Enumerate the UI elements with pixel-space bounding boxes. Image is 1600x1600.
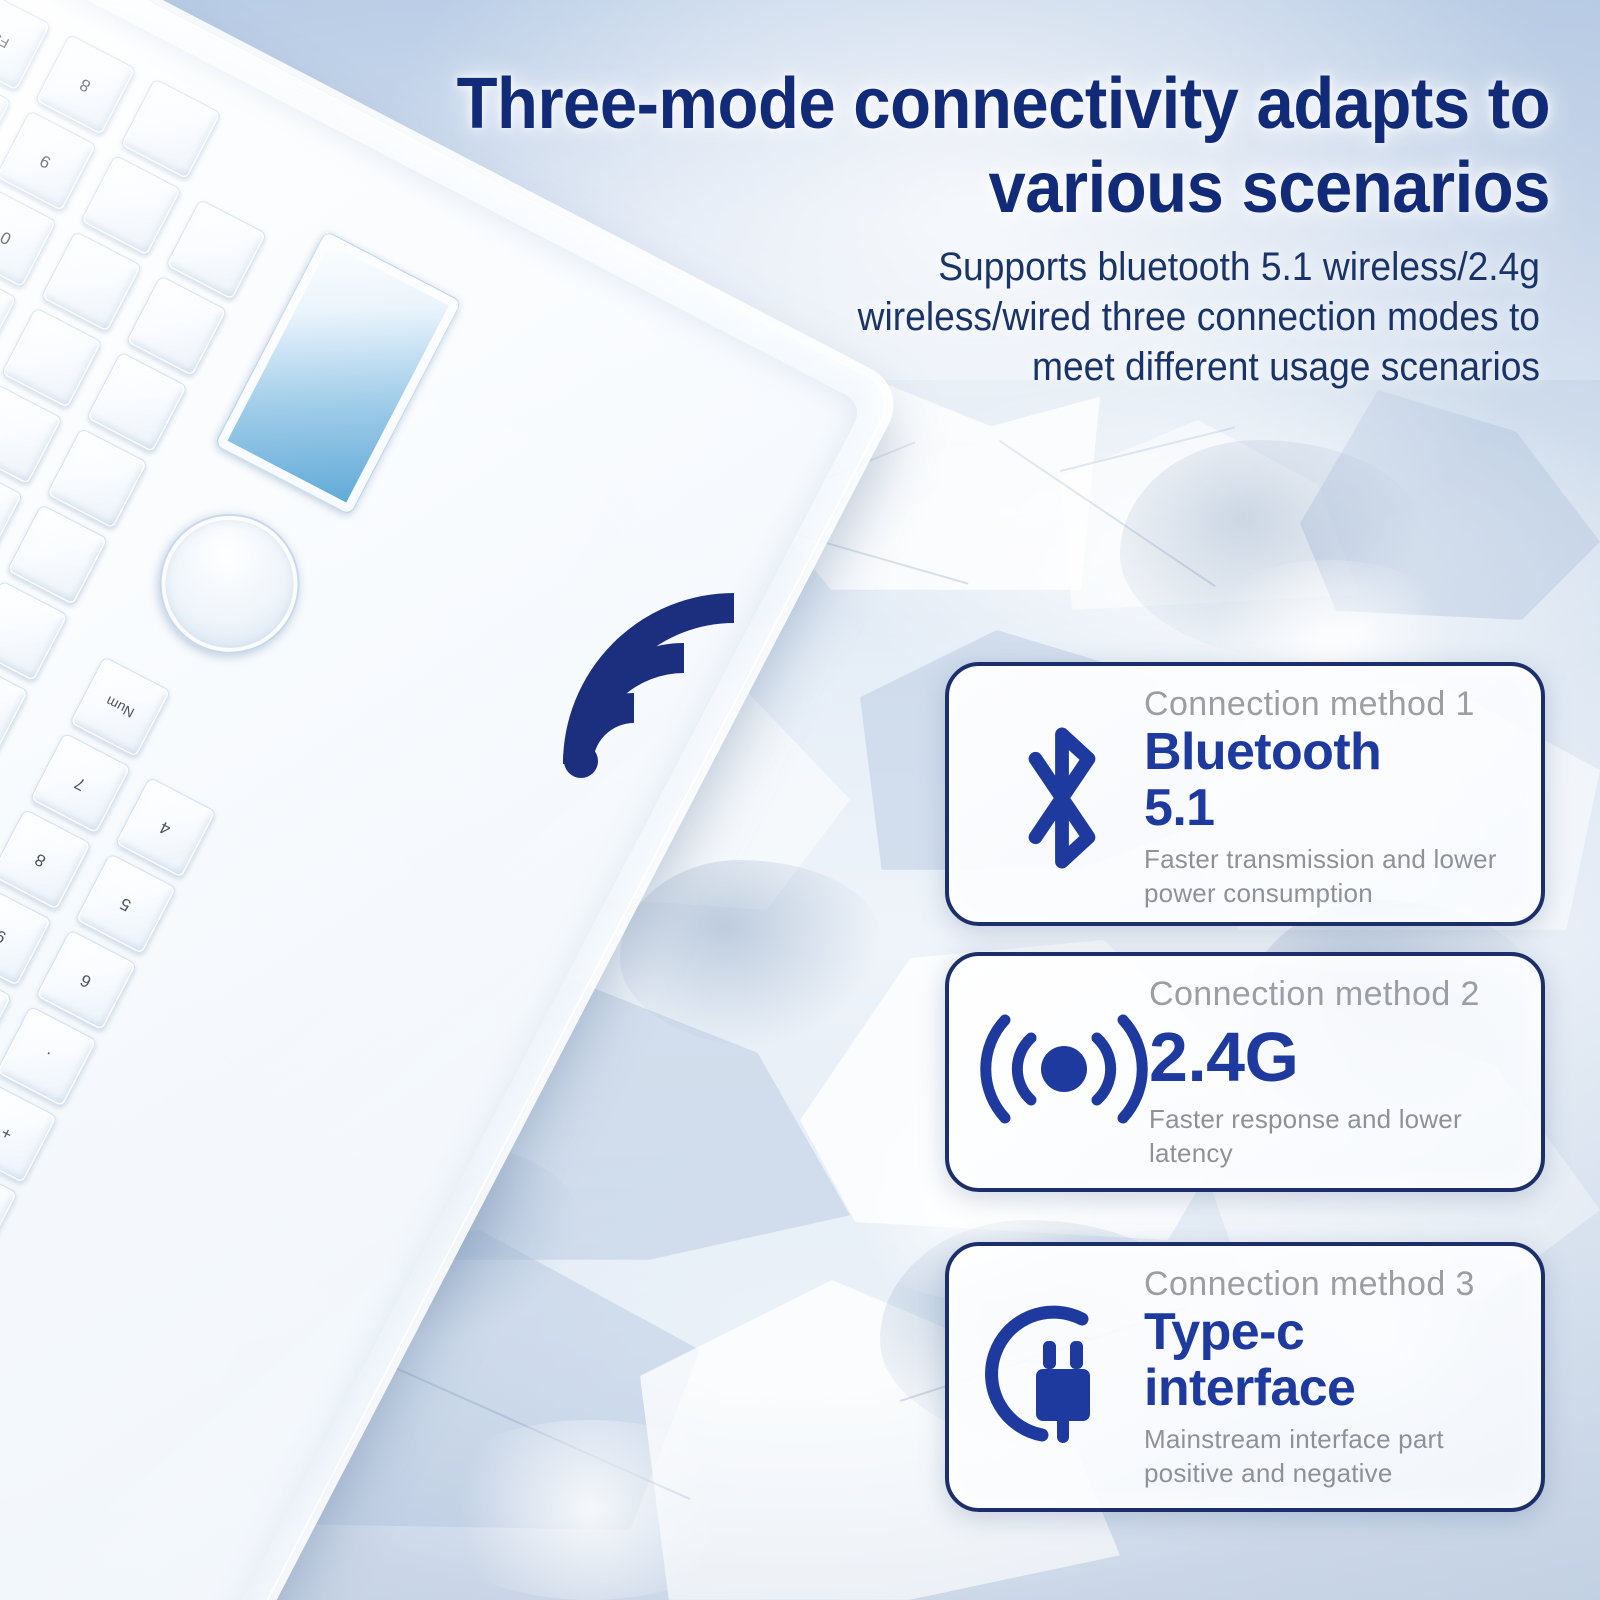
- key-label: 8: [77, 74, 95, 96]
- feature-card-kicker: Connection method 3: [1144, 1264, 1524, 1304]
- feature-card-desc-line2: positive and negative: [1144, 1456, 1524, 1490]
- page-title-line1: Three-mode connectivity adapts to: [388, 62, 1551, 146]
- wifi-signal-icon: [556, 586, 756, 786]
- feature-card-bluetooth-body: Connection method 1 Bluetooth 5.1 Faster…: [1144, 684, 1524, 910]
- page-subtitle-line3: meet different usage scenarios: [703, 342, 1540, 392]
- feature-card-typec-body: Connection method 3 Type-c interface Mai…: [1144, 1264, 1524, 1490]
- feature-card-desc-line1: Mainstream interface part: [1144, 1422, 1524, 1456]
- page-subtitle-line2: wireless/wired three connection modes to: [703, 292, 1540, 342]
- feature-card-typec[interactable]: Connection method 3 Type-c interface Mai…: [945, 1242, 1545, 1512]
- page-subtitle-line1: Supports bluetooth 5.1 wireless/2.4g: [703, 242, 1540, 292]
- key-label: 5: [117, 893, 135, 915]
- key-label: Num: [103, 693, 137, 721]
- feature-card-desc-line1: Faster response and lower: [1149, 1102, 1529, 1136]
- poster-canvas: F5 F6 F7 F8 F9 F10 F11 F12 Del 8 9 0 O P…: [0, 0, 1600, 1600]
- feature-card-desc-line1: Faster transmission and lower: [1144, 842, 1524, 876]
- power-plug-icon: [979, 1292, 1149, 1462]
- feature-card-title-line2: interface: [1144, 1360, 1524, 1416]
- feature-card-kicker: Connection method 1: [1144, 684, 1524, 724]
- page-subtitle: Supports bluetooth 5.1 wireless/2.4g wir…: [703, 242, 1540, 392]
- key-label: 9: [0, 925, 10, 947]
- feature-card-24g-body: Connection method 2 2.4G Faster response…: [1149, 974, 1529, 1170]
- key-label: 7: [72, 773, 90, 795]
- feature-card-title-line1: Bluetooth: [1144, 724, 1524, 780]
- feature-card-bluetooth[interactable]: Connection method 1 Bluetooth 5.1 Faster…: [945, 662, 1545, 926]
- key-label: +: [0, 1122, 16, 1144]
- key-label: 6: [77, 969, 95, 991]
- key-label: 4: [157, 817, 175, 839]
- feature-card-24g[interactable]: Connection method 2 2.4G Faster response…: [945, 952, 1545, 1192]
- key-label: 8: [32, 849, 50, 871]
- feature-card-kicker: Connection method 2: [1149, 974, 1529, 1014]
- bluetooth-icon: [987, 708, 1137, 888]
- feature-card-desc-line2: latency: [1149, 1136, 1529, 1170]
- feature-card-title-line1: Type-c: [1144, 1304, 1524, 1360]
- feature-card-desc-line2: power consumption: [1144, 876, 1524, 910]
- key-label: .: [40, 1047, 53, 1067]
- page-title: Three-mode connectivity adapts to variou…: [388, 62, 1551, 230]
- key-label: F5: [0, 30, 11, 52]
- rf-signal-icon: [969, 1004, 1159, 1134]
- page-title-line2: various scenarios: [388, 146, 1551, 230]
- key-label: 9: [37, 150, 55, 172]
- feature-card-title-line1: 2.4G: [1149, 1014, 1529, 1100]
- feature-card-title-line2: 5.1: [1144, 780, 1524, 836]
- key-label: 0: [0, 227, 15, 249]
